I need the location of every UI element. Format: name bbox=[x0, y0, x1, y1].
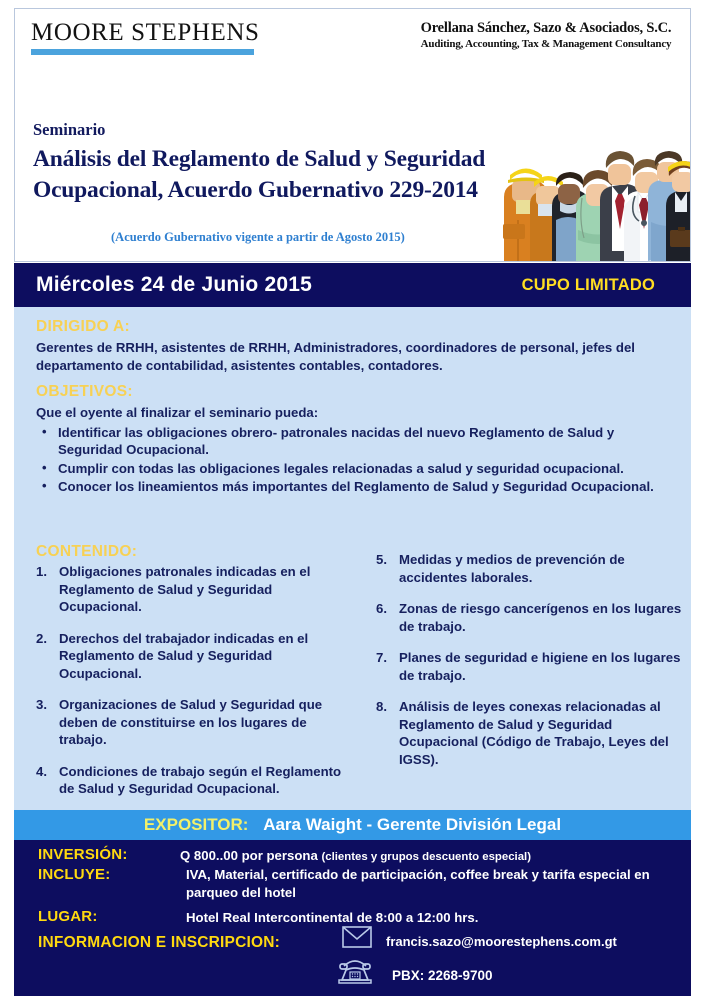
seminar-kicker: Seminario bbox=[33, 120, 105, 140]
includes-value: IVA, Material, certificado de participac… bbox=[186, 866, 678, 902]
speaker-banner: EXPOSITOR: Aara Waight - Gerente Divisió… bbox=[14, 810, 691, 840]
item-number: 6. bbox=[376, 600, 387, 618]
audience-text: Gerentes de RRHH, asistentes de RRHH, Ad… bbox=[36, 339, 676, 374]
speaker-label: EXPOSITOR: bbox=[144, 815, 249, 834]
item-text: Análisis de leyes conexas relacionadas a… bbox=[399, 699, 669, 767]
flyer-header: MOORE STEPHENS Orellana Sánchez, Sazo & … bbox=[14, 8, 691, 102]
item-number: 7. bbox=[376, 649, 387, 667]
item-number: 5. bbox=[376, 551, 387, 569]
list-item: 3. Organizaciones de Salud y Seguridad q… bbox=[36, 696, 354, 749]
price-value-row: Q 800..00 por persona (clientes y grupos… bbox=[180, 847, 531, 866]
contact-phone: PBX: 2268-9700 bbox=[392, 968, 493, 983]
contact-email[interactable]: francis.sazo@moorestephens.com.gt bbox=[386, 934, 617, 949]
item-text: Zonas de riesgo cancerígenos en los luga… bbox=[399, 601, 681, 634]
objectives-section: OBJETIVOS: Que el oyente al finalizar el… bbox=[36, 383, 676, 497]
price-note: (clientes y grupos descuento especial) bbox=[321, 851, 531, 863]
price-value: Q 800..00 por persona bbox=[180, 848, 318, 863]
list-item: Identificar las obligaciones obrero- pat… bbox=[36, 424, 676, 459]
audience-section: DIRIGIDO A: Gerentes de RRHH, asistentes… bbox=[36, 318, 676, 374]
title-note: (Acuerdo Gubernativo vigente a partir de… bbox=[111, 230, 405, 245]
list-item: Conocer los lineamientos más importantes… bbox=[36, 478, 676, 496]
telephone-icon bbox=[337, 956, 373, 991]
title-block: Seminario Análisis del Reglamento de Sal… bbox=[14, 102, 691, 262]
list-item: 8. Análisis de leyes conexas relacionada… bbox=[376, 698, 688, 768]
page-title: Análisis del Reglamento de Salud y Segur… bbox=[33, 144, 503, 206]
item-text: Obligaciones patronales indicadas en el … bbox=[59, 564, 310, 614]
brand-block: MOORE STEPHENS bbox=[31, 19, 260, 55]
list-item: 1. Obligaciones patronales indicadas en … bbox=[36, 563, 354, 616]
firm-subtitle: Auditing, Accounting, Tax & Management C… bbox=[416, 38, 676, 50]
venue-value: Hotel Real Intercontinental de 8:00 a 12… bbox=[186, 909, 478, 927]
list-item: 2. Derechos del trabajador indicadas en … bbox=[36, 630, 354, 683]
item-text: Medidas y medios de prevención de accide… bbox=[399, 552, 625, 585]
list-item: 4. Condiciones de trabajo según el Regla… bbox=[36, 763, 354, 798]
list-item: 5. Medidas y medios de prevención de acc… bbox=[376, 551, 688, 586]
item-text: Derechos del trabajador indicadas en el … bbox=[59, 631, 308, 681]
date-banner: Miércoles 24 de Junio 2015 CUPO LIMITADO bbox=[14, 263, 691, 307]
item-number: 2. bbox=[36, 630, 47, 648]
firm-block: Orellana Sánchez, Sazo & Asociados, S.C.… bbox=[416, 20, 676, 50]
audience-heading: DIRIGIDO A: bbox=[36, 318, 676, 336]
contents-heading: CONTENIDO: bbox=[36, 543, 137, 561]
item-text: Planes de seguridad e higiene en los lug… bbox=[399, 650, 680, 683]
contact-label: INFORMACION E INSCRIPCION: bbox=[38, 934, 280, 952]
firm-name: Orellana Sánchez, Sazo & Asociados, S.C. bbox=[416, 20, 676, 37]
contents-left-column: 1. Obligaciones patronales indicadas en … bbox=[36, 563, 354, 812]
list-item: 7. Planes de seguridad e higiene en los … bbox=[376, 649, 688, 684]
brand-name: MOORE STEPHENS bbox=[31, 19, 260, 47]
venue-label: LUGAR: bbox=[38, 908, 98, 925]
seminar-date: Miércoles 24 de Junio 2015 bbox=[36, 273, 312, 297]
item-number: 8. bbox=[376, 698, 387, 716]
seminar-flyer: MOORE STEPHENS Orellana Sánchez, Sazo & … bbox=[0, 0, 705, 1008]
group-of-professionals-photo bbox=[494, 102, 690, 261]
price-label: INVERSIÓN: bbox=[38, 846, 128, 863]
envelope-icon bbox=[342, 926, 372, 953]
item-number: 4. bbox=[36, 763, 47, 781]
brand-underline-rule bbox=[31, 49, 254, 55]
flyer-body: DIRIGIDO A: Gerentes de RRHH, asistentes… bbox=[14, 307, 691, 810]
item-text: Condiciones de trabajo según el Reglamen… bbox=[59, 764, 341, 797]
flyer-footer: INVERSIÓN: Q 800..00 por persona (client… bbox=[14, 840, 691, 996]
limited-seats-badge: CUPO LIMITADO bbox=[522, 276, 655, 295]
objectives-list: Identificar las obligaciones obrero- pat… bbox=[36, 424, 676, 496]
list-item: 6. Zonas de riesgo cancerígenos en los l… bbox=[376, 600, 688, 635]
includes-label: INCLUYE: bbox=[38, 866, 110, 883]
contents-right-column: 5. Medidas y medios de prevención de acc… bbox=[376, 551, 688, 782]
objectives-heading: OBJETIVOS: bbox=[36, 383, 676, 401]
item-number: 1. bbox=[36, 563, 47, 581]
item-number: 3. bbox=[36, 696, 47, 714]
item-text: Organizaciones de Salud y Seguridad que … bbox=[59, 697, 322, 747]
objectives-lead: Que el oyente al finalizar el seminario … bbox=[36, 404, 676, 422]
list-item: Cumplir con todas las obligaciones legal… bbox=[36, 460, 676, 478]
speaker-name: Aara Waight - Gerente División Legal bbox=[263, 815, 561, 834]
